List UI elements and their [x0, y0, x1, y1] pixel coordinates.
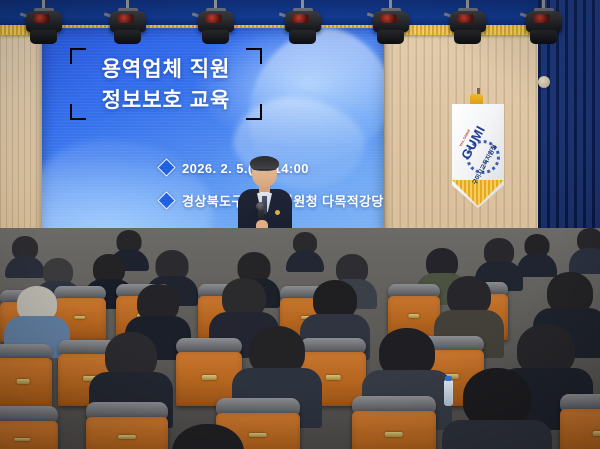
audience-member: [573, 228, 600, 268]
audience-member: [10, 286, 64, 348]
slide-title-frame: 용역업체 직원 정보보호 교육: [70, 48, 262, 120]
bottle-cap: [445, 376, 452, 381]
auditorium-seat[interactable]: [0, 421, 58, 449]
stage-light-7: [524, 0, 568, 45]
auditorium-seat[interactable]: [560, 409, 600, 449]
auditorium-seat[interactable]: [352, 411, 436, 449]
diamond-bullet-icon: [157, 191, 175, 209]
wall-speaker-icon: [538, 76, 550, 88]
auditorium-photo: Yes, Global GUMI GUMI 용역업체 직원 정보보호 교육 20…: [0, 0, 600, 449]
audience-member: [288, 232, 322, 266]
projection-screen: 용역업체 직원 정보보호 교육 2026. 2. 5.(목) 14:00 경상북…: [42, 28, 384, 260]
slide-title-line-2: 정보보호 교육: [70, 85, 262, 116]
slide-title-line-1: 용역업체 직원: [70, 54, 262, 85]
microphone-head-icon: [256, 202, 266, 210]
slide-title: 용역업체 직원 정보보호 교육: [70, 54, 262, 116]
stage-light-2: [108, 0, 152, 45]
auditorium-seat[interactable]: [86, 417, 168, 449]
stage-light-4: [283, 0, 327, 45]
audience-member: [8, 236, 42, 270]
stage-light-5: [371, 0, 415, 45]
glasses-icon: [253, 169, 276, 174]
auditorium-seat[interactable]: [0, 358, 52, 408]
audience-seating-area: [0, 228, 600, 449]
diamond-bullet-icon: [157, 158, 175, 176]
audience-member: [96, 332, 166, 412]
stage-light-6: [448, 0, 492, 45]
stage-light-1: [24, 0, 68, 45]
audience-member: [520, 234, 554, 268]
audience-member-foreground: [452, 368, 542, 449]
stage-light-3: [196, 0, 240, 45]
audience-member-foreground: [160, 424, 256, 449]
presenter-lapel-pin: [275, 210, 280, 215]
